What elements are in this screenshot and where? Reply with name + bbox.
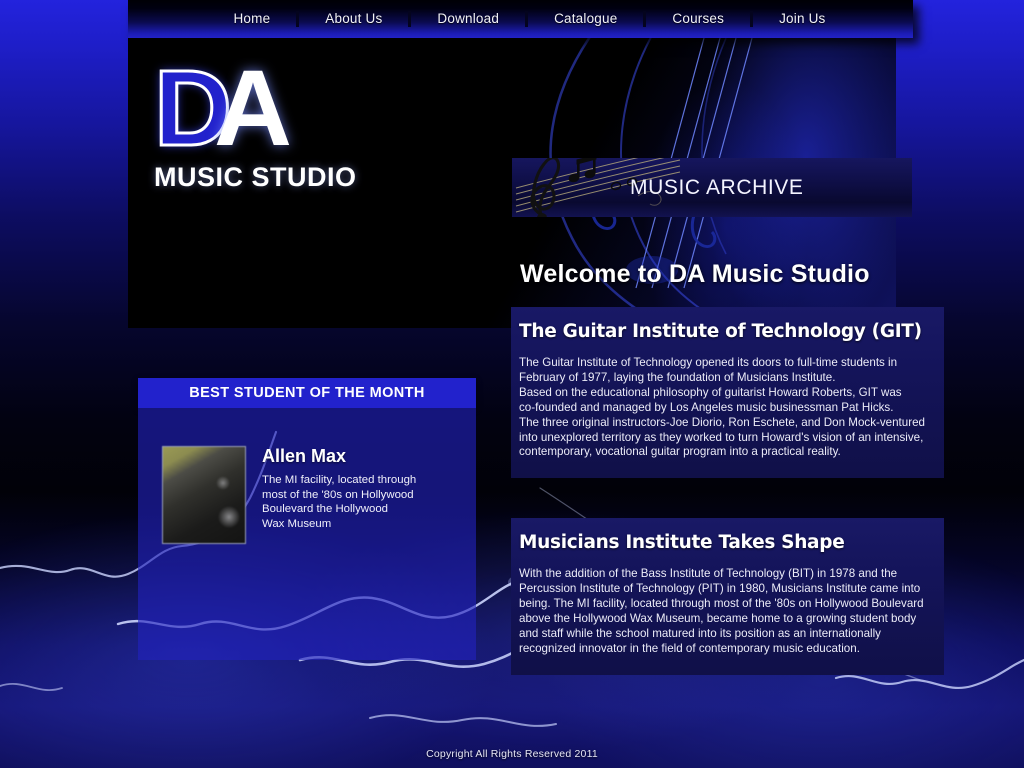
nav-item-courses[interactable]: Courses: [646, 0, 750, 38]
best-student-header: BEST STUDENT OF THE MONTH: [138, 378, 476, 408]
footer-copyright: Copyright All Rights Reserved 2011: [0, 748, 1024, 760]
logo-letter-a: A: [214, 47, 288, 168]
article-git: The Guitar Institute of Technology (GIT)…: [511, 307, 944, 478]
site-logo[interactable]: DA MUSIC STUDIO: [154, 56, 357, 193]
logo-letters: DA: [154, 56, 357, 160]
nav-item-join-us[interactable]: Join Us: [753, 0, 851, 38]
student-info: Allen Max The MI facility, located throu…: [262, 446, 416, 660]
student-name: Allen Max: [262, 446, 416, 467]
nav-item-download[interactable]: Download: [411, 0, 525, 38]
nav-list: Home About Us Download Catalogue Courses…: [189, 0, 851, 38]
student-photo: [162, 446, 246, 544]
nav-item-about-us[interactable]: About Us: [299, 0, 408, 38]
article-body: With the addition of the Bass Institute …: [511, 567, 944, 656]
music-archive-banner: MUSIC ARCHIVE: [512, 158, 912, 217]
article-title: The Guitar Institute of Technology (GIT): [511, 321, 944, 342]
best-student-panel: BEST STUDENT OF THE MONTH Allen Max The …: [138, 378, 476, 660]
page-title: Welcome to DA Music Studio: [520, 260, 1024, 289]
nav-item-catalogue[interactable]: Catalogue: [528, 0, 643, 38]
archive-title: MUSIC ARCHIVE: [630, 158, 804, 217]
logo-subtitle: MUSIC STUDIO: [154, 162, 357, 193]
article-musicians-institute: Musicians Institute Takes Shape With the…: [511, 518, 944, 674]
main-content: Welcome to DA Music Studio The Guitar In…: [496, 260, 1024, 675]
best-student-body: Allen Max The MI facility, located throu…: [138, 408, 476, 660]
article-title: Musicians Institute Takes Shape: [511, 532, 944, 553]
article-body: The Guitar Institute of Technology opene…: [511, 356, 944, 460]
top-navigation-bar[interactable]: Home About Us Download Catalogue Courses…: [128, 0, 913, 38]
nav-item-home[interactable]: Home: [207, 0, 296, 38]
student-description: The MI facility, located through most of…: [262, 473, 416, 531]
